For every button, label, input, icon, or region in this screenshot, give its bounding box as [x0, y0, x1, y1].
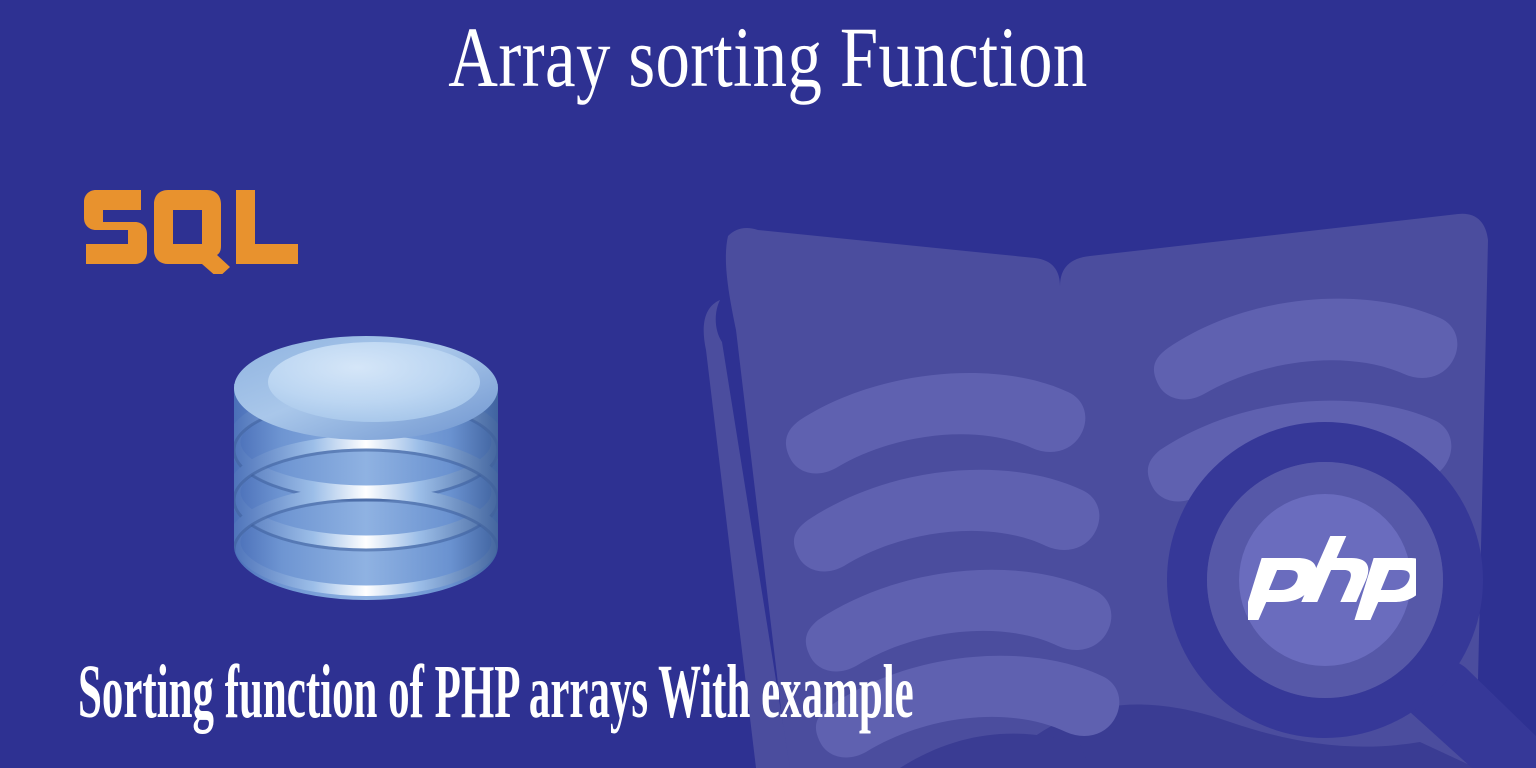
sql-letter-s	[84, 190, 147, 264]
sql-wordmark-glyphs	[84, 190, 298, 274]
poster-canvas: Array sorting Function Sorting function …	[0, 0, 1536, 768]
sql-letter-q	[154, 190, 230, 274]
page-caption: Sorting function of PHP arrays With exam…	[78, 654, 914, 730]
page-title: Array sorting Function	[154, 14, 1383, 100]
sql-logo	[84, 182, 299, 274]
db-top-disc	[234, 336, 498, 440]
php-logo	[1248, 528, 1416, 624]
db-top-highlight	[268, 342, 480, 422]
sql-letter-l	[236, 190, 298, 264]
database-stack-icon	[228, 332, 504, 618]
php-wordmark-glyphs	[1248, 536, 1416, 620]
